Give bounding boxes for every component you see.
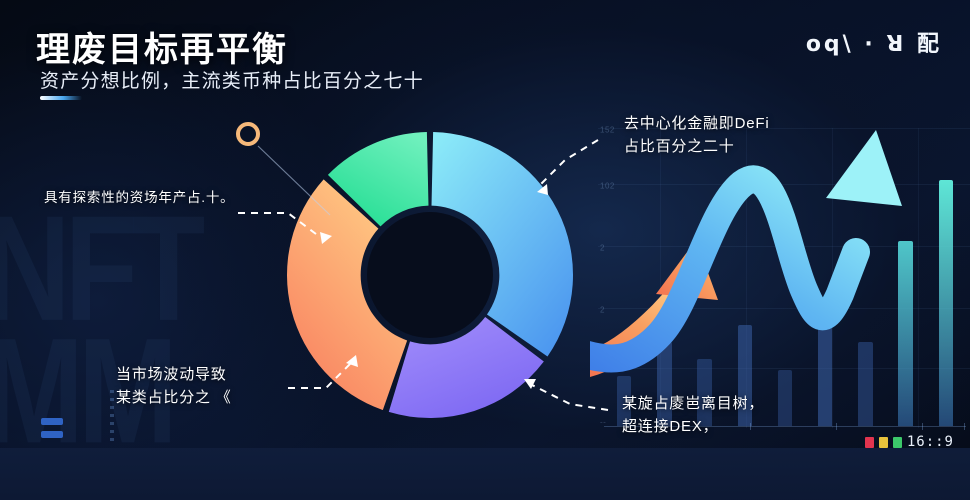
annotation-top-right: 去中心化金融即DeFi 占比百分之二十 bbox=[624, 112, 769, 159]
background-watermark: NFT MM bbox=[0, 207, 199, 453]
annotation-bottom-left: 当市场波动导致 某类占比分之 《 bbox=[116, 363, 232, 410]
page-title: 理废目标再平衡 bbox=[36, 22, 288, 71]
watermark-bars bbox=[41, 418, 63, 444]
annotation-left: 具有探索性的资场年产占.十。 bbox=[44, 188, 234, 209]
chip-red-icon bbox=[865, 437, 874, 448]
donut-chart[interactable] bbox=[280, 125, 580, 425]
brand-logo: oq\ · ꓤ 配 bbox=[806, 26, 942, 58]
highlight-ring-marker[interactable] bbox=[236, 122, 260, 146]
watermark-dots bbox=[110, 390, 114, 441]
chip-yellow-icon bbox=[879, 437, 888, 448]
page-subtitle: 资产分想比例，主流类币种占比百分之七十 bbox=[40, 66, 424, 93]
chip-green-icon bbox=[893, 437, 902, 448]
slide-canvas: NFT MM 152 102 2 2 02 -- bbox=[0, 0, 970, 500]
annotation-bottom-right: 某旋占庱岜离目树， 超连接DEX， bbox=[622, 392, 764, 439]
caption-bar: 通过钱包兑换功能然在偏离目标时，画·惜以类高声镂祝尝组做 不旦攻畚o夯以，小幅辐… bbox=[0, 448, 970, 500]
title-accent-rule bbox=[40, 96, 82, 100]
donut-hole bbox=[367, 212, 493, 338]
